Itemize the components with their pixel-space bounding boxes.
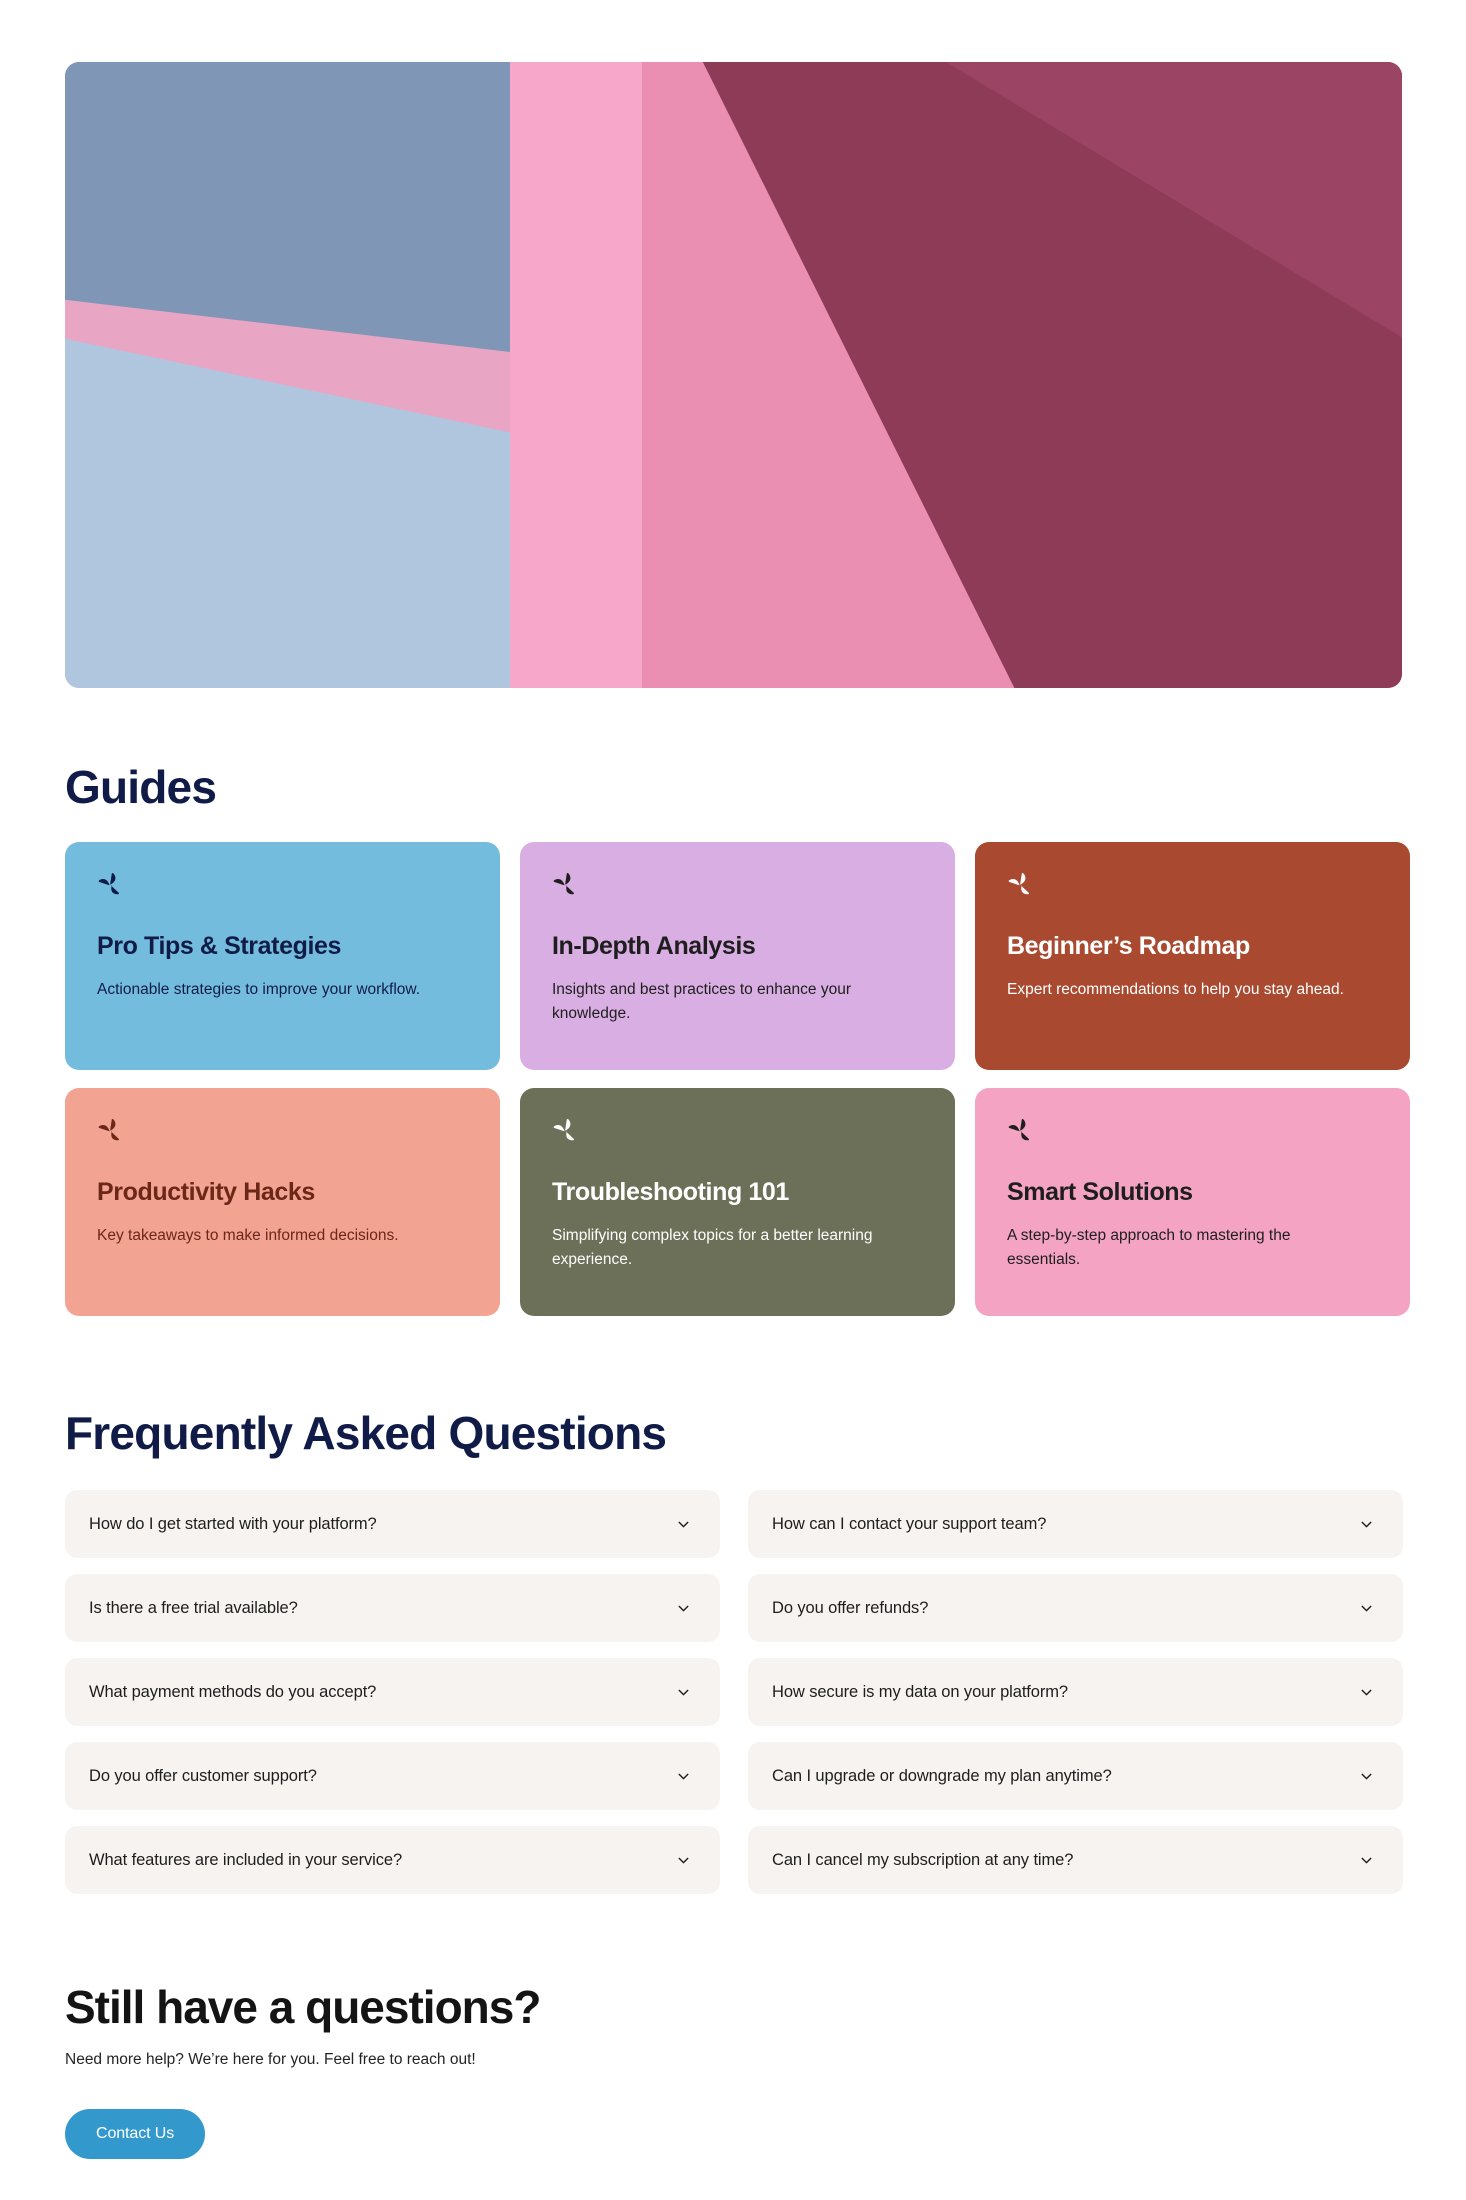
chevron-down-icon[interactable] bbox=[675, 1852, 692, 1869]
hero-shape-blue-dark bbox=[65, 62, 510, 352]
cta-section: Still have a questions? Need more help? … bbox=[0, 1894, 1466, 2159]
faq-item[interactable]: Do you offer customer support? bbox=[65, 1742, 720, 1810]
propeller-icon bbox=[1007, 1118, 1033, 1144]
faq-question-label: Do you offer customer support? bbox=[89, 1767, 317, 1786]
propeller-icon bbox=[552, 1118, 578, 1144]
faq-question-label: How can I contact your support team? bbox=[772, 1515, 1046, 1534]
faq-question-label: Can I upgrade or downgrade my plan anyti… bbox=[772, 1767, 1112, 1786]
faq-question-label: What payment methods do you accept? bbox=[89, 1683, 376, 1702]
guide-card[interactable]: In-Depth AnalysisInsights and best pract… bbox=[520, 842, 955, 1070]
chevron-down-icon[interactable] bbox=[1358, 1600, 1375, 1617]
chevron-down-icon[interactable] bbox=[675, 1684, 692, 1701]
faq-item[interactable]: Can I cancel my subscription at any time… bbox=[748, 1826, 1403, 1894]
chevron-down-icon[interactable] bbox=[1358, 1516, 1375, 1533]
hero-section bbox=[0, 0, 1466, 688]
propeller-icon bbox=[552, 872, 578, 898]
faq-grid: How do I get started with your platform?… bbox=[0, 1490, 1466, 1894]
contact-us-button[interactable]: Contact Us bbox=[65, 2109, 205, 2159]
chevron-down-icon[interactable] bbox=[675, 1768, 692, 1785]
guide-card[interactable]: Troubleshooting 101Simplifying complex t… bbox=[520, 1088, 955, 1316]
guide-card[interactable]: Pro Tips & StrategiesActionable strategi… bbox=[65, 842, 500, 1070]
guide-card-description: Key takeaways to make informed decisions… bbox=[97, 1224, 452, 1248]
faq-question-label: Do you offer refunds? bbox=[772, 1599, 928, 1618]
guide-card[interactable]: Smart SolutionsA step-by-step approach t… bbox=[975, 1088, 1410, 1316]
faq-question-label: Is there a free trial available? bbox=[89, 1599, 298, 1618]
guide-card-description: A step-by-step approach to mastering the… bbox=[1007, 1224, 1362, 1272]
hero-abstract-image bbox=[65, 62, 1402, 688]
guide-card-description: Expert recommendations to help you stay … bbox=[1007, 978, 1362, 1002]
faq-question-label: How do I get started with your platform? bbox=[89, 1515, 377, 1534]
faq-item[interactable]: How can I contact your support team? bbox=[748, 1490, 1403, 1558]
faq-question-label: How secure is my data on your platform? bbox=[772, 1683, 1068, 1702]
faq-item[interactable]: How secure is my data on your platform? bbox=[748, 1658, 1403, 1726]
guides-heading: Guides bbox=[65, 760, 1466, 814]
propeller-icon bbox=[1007, 872, 1033, 898]
faq-heading-wrap: Frequently Asked Questions bbox=[0, 1316, 1466, 1490]
faq-item[interactable]: What payment methods do you accept? bbox=[65, 1658, 720, 1726]
chevron-down-icon[interactable] bbox=[1358, 1768, 1375, 1785]
guides-grid: Pro Tips & StrategiesActionable strategi… bbox=[0, 842, 1466, 1316]
guide-card-title: Productivity Hacks bbox=[97, 1178, 468, 1207]
chevron-down-icon[interactable] bbox=[675, 1516, 692, 1533]
propeller-icon bbox=[97, 872, 123, 898]
guide-card-title: In-Depth Analysis bbox=[552, 932, 923, 961]
faq-item[interactable]: Can I upgrade or downgrade my plan anyti… bbox=[748, 1742, 1403, 1810]
faq-question-label: What features are included in your servi… bbox=[89, 1851, 402, 1870]
chevron-down-icon[interactable] bbox=[675, 1600, 692, 1617]
guide-card-title: Beginner’s Roadmap bbox=[1007, 932, 1378, 961]
guide-card-description: Simplifying complex topics for a better … bbox=[552, 1224, 907, 1272]
guides-heading-wrap: Guides bbox=[0, 688, 1466, 842]
faq-item[interactable]: Do you offer refunds? bbox=[748, 1574, 1403, 1642]
guide-card-description: Actionable strategies to improve your wo… bbox=[97, 978, 452, 1002]
faq-heading: Frequently Asked Questions bbox=[65, 1406, 1466, 1460]
hero-shape-pink-strip bbox=[510, 62, 642, 688]
faq-item[interactable]: Is there a free trial available? bbox=[65, 1574, 720, 1642]
chevron-down-icon[interactable] bbox=[1358, 1852, 1375, 1869]
faq-page: Guides Pro Tips & StrategiesActionable s… bbox=[0, 0, 1466, 2200]
guide-card[interactable]: Productivity HacksKey takeaways to make … bbox=[65, 1088, 500, 1316]
guide-card-title: Pro Tips & Strategies bbox=[97, 932, 468, 961]
guide-card[interactable]: Beginner’s RoadmapExpert recommendations… bbox=[975, 842, 1410, 1070]
faq-item[interactable]: What features are included in your servi… bbox=[65, 1826, 720, 1894]
faq-item[interactable]: How do I get started with your platform? bbox=[65, 1490, 720, 1558]
guide-card-title: Troubleshooting 101 bbox=[552, 1178, 923, 1207]
faq-question-label: Can I cancel my subscription at any time… bbox=[772, 1851, 1073, 1870]
guide-card-title: Smart Solutions bbox=[1007, 1178, 1378, 1207]
propeller-icon bbox=[97, 1118, 123, 1144]
cta-heading: Still have a questions? bbox=[65, 1980, 1466, 2034]
cta-subtext: Need more help? We’re here for you. Feel… bbox=[65, 2051, 1466, 2069]
guide-card-description: Insights and best practices to enhance y… bbox=[552, 978, 907, 1026]
chevron-down-icon[interactable] bbox=[1358, 1684, 1375, 1701]
